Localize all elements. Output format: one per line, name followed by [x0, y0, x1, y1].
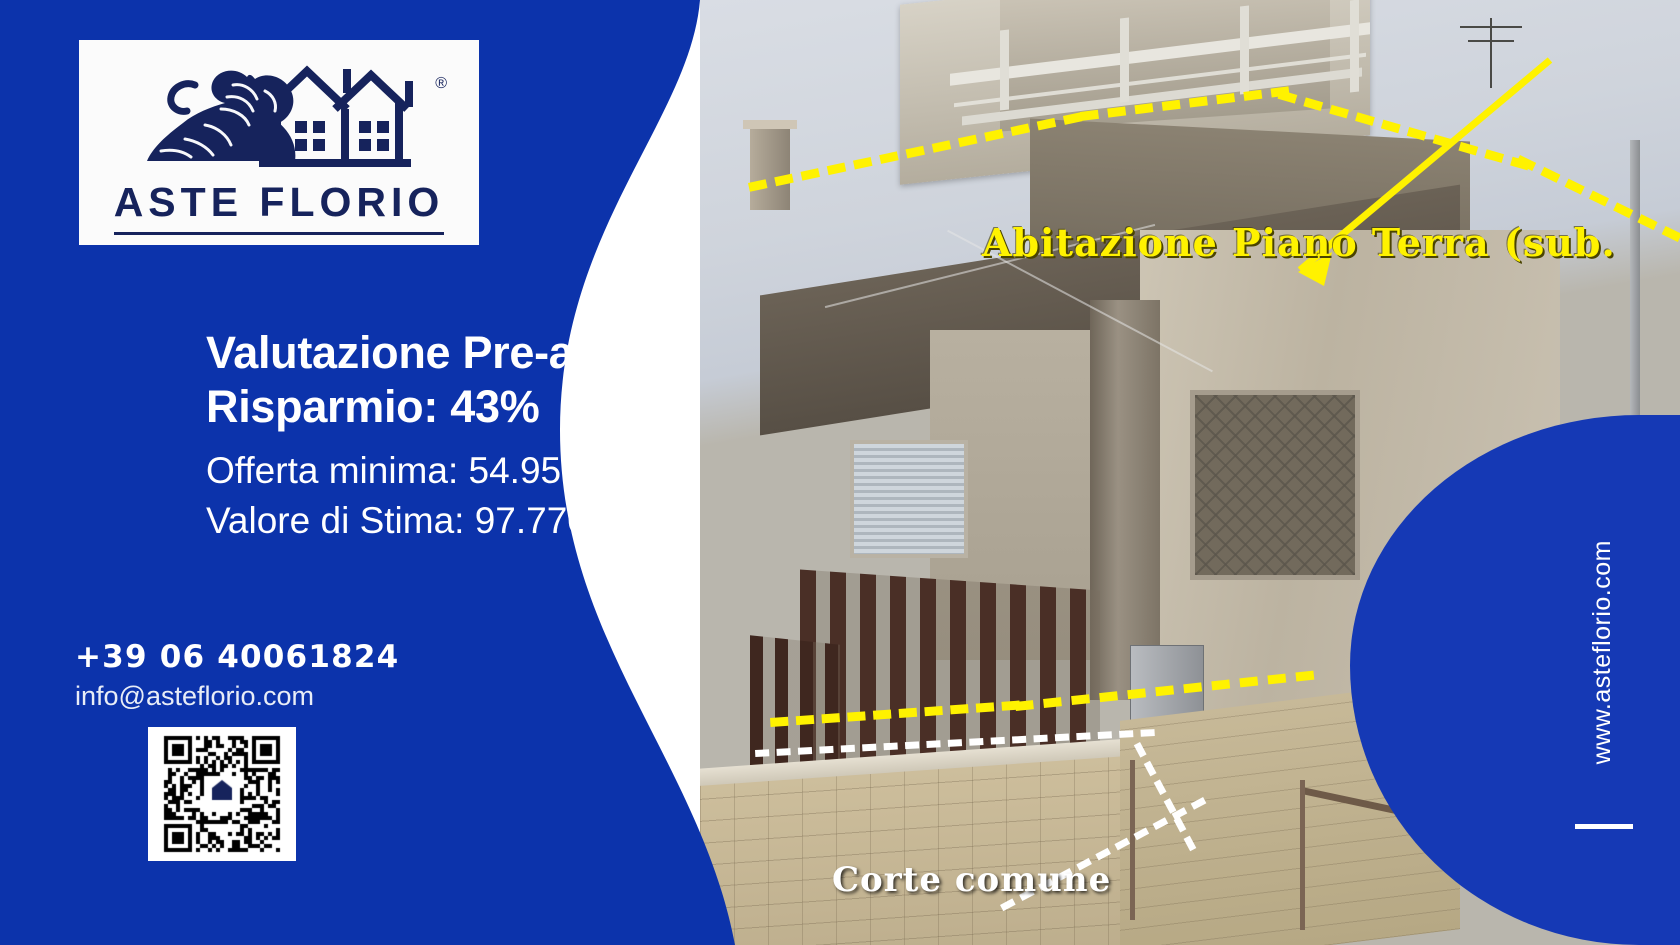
minimum-offer-line: Offerta minima: 54.950 €: [206, 449, 726, 493]
qr-code[interactable]: [148, 727, 296, 861]
website-underline-rule: [1575, 824, 1633, 829]
photo-support-column: [1090, 300, 1160, 700]
qr-code-icon: [155, 734, 289, 854]
annotation-ground-floor-label: Abitazione Piano Terra (sub.: [982, 220, 1616, 265]
photo-metal-rod: [1300, 780, 1305, 930]
annotation-common-court-label: Corte comune: [832, 860, 1111, 900]
photo-chimney: [750, 120, 790, 210]
logo-wordmark: ASTE FLORIO: [114, 179, 445, 226]
brand-logo-card: ® ASTE FLORIO: [79, 40, 479, 245]
contact-email[interactable]: info@asteflorio.com: [75, 681, 314, 712]
headline-line-2: Risparmio: 43%: [206, 380, 726, 434]
registered-trademark-icon: ®: [435, 75, 447, 93]
logo-underline-rule: [114, 232, 444, 235]
photo-railing-post: [1000, 29, 1009, 110]
photo-rolling-shutter-window: [850, 440, 968, 558]
yellow-pointer-arrow: [1220, 40, 1570, 310]
headline-line-1: Valutazione Pre-asta: [206, 326, 726, 380]
auction-property-poster: Abitazione Piano Terra (sub. Corte comun…: [0, 0, 1680, 945]
photo-grated-window: [1190, 390, 1360, 580]
photo-railing-post: [1120, 17, 1129, 102]
valuation-headline-block: Valutazione Pre-asta Risparmio: 43% Offe…: [206, 326, 726, 544]
lion-and-houses-logo-icon: ®: [99, 51, 459, 181]
website-vertical-label[interactable]: www.asteflorio.com: [1588, 540, 1617, 764]
estimated-value-line: Valore di Stima: 97.770 €: [206, 499, 726, 543]
contact-phone[interactable]: +39 06 40061824: [75, 639, 399, 675]
